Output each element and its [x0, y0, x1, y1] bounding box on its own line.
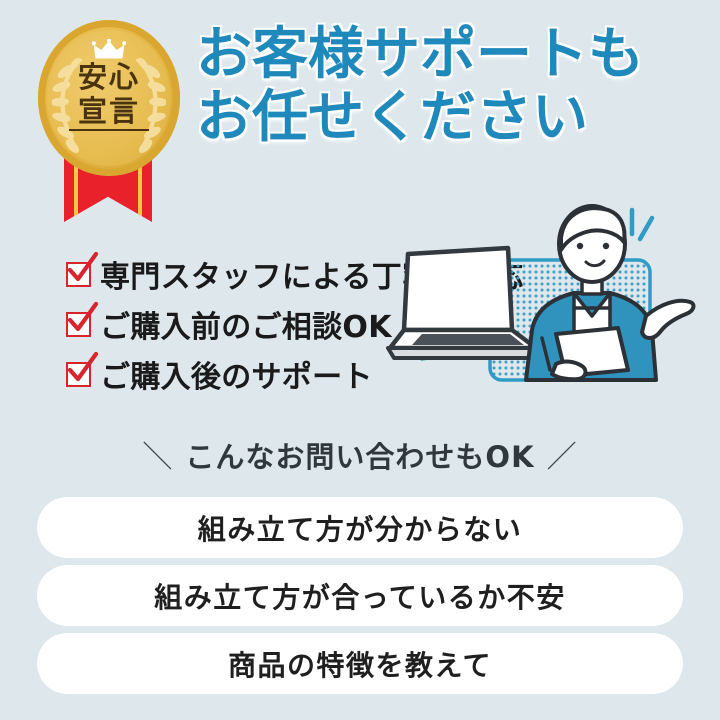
- list-item[interactable]: 組み立て方が合っているか不安: [37, 565, 683, 626]
- headline-line-2: お任せください: [196, 87, 644, 150]
- subheading-text: こんなお問い合わせもOK: [185, 440, 534, 474]
- support-illustration: [360, 198, 720, 433]
- pill-label: 組み立て方が分からない: [198, 508, 523, 548]
- pill-label: 商品の特徴を教えて: [228, 644, 492, 684]
- medal-inner-disc: 安心 宣言: [47, 30, 171, 166]
- checklist-label: ご購入後のサポート: [100, 352, 373, 396]
- badge-line-2: 宣言: [69, 95, 149, 130]
- headline-line-1: お客様サポートも: [196, 24, 644, 87]
- slash-right-decoration: ／: [535, 432, 590, 476]
- faq-pill-list: 組み立て方が分からない 組み立て方が合っているか不安 商品の特徴を教えて: [37, 497, 683, 701]
- crown-icon: [92, 39, 126, 61]
- checkbox-checked-icon: [66, 312, 91, 337]
- badge-line-1: 安心: [78, 60, 140, 94]
- medal-disc: 安心 宣言: [38, 20, 180, 176]
- checklist-label: ご購入前のご相談OK: [100, 302, 392, 346]
- list-item[interactable]: 組み立て方が分からない: [37, 497, 683, 558]
- subheading: ＼こんなお問い合わせもOK／: [0, 432, 720, 476]
- page-title: お客様サポートも お任せください: [196, 24, 644, 149]
- list-item[interactable]: 商品の特徴を教えて: [37, 633, 683, 694]
- pill-label: 組み立て方が合っているか不安: [154, 576, 566, 616]
- slash-left-decoration: ＼: [130, 432, 185, 476]
- support-banner: 安心 宣言 お客様サポートも お任せください 専門スタッフによる丁寧な対応 ご購…: [0, 0, 720, 720]
- checkbox-checked-icon: [66, 362, 91, 387]
- badge-text: 安心 宣言: [47, 61, 171, 131]
- checkbox-checked-icon: [66, 262, 91, 287]
- anshin-sengen-badge: 安心 宣言: [28, 14, 188, 224]
